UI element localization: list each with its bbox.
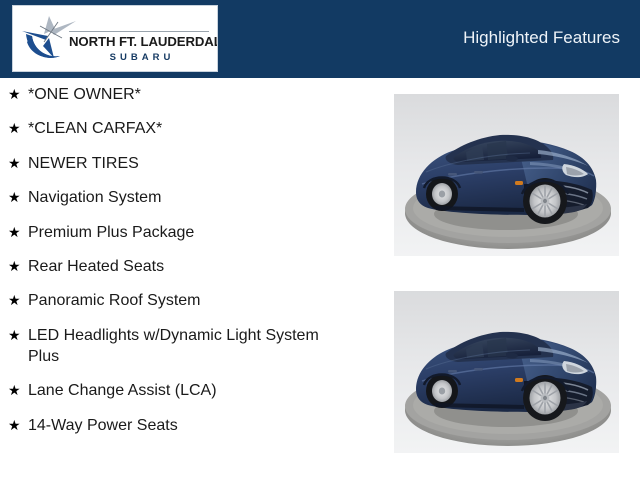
star-icon: ★	[8, 153, 28, 174]
page-header: NORTH FT. LAUDERDALE SUBARU Highlighted …	[0, 0, 640, 78]
list-item: ★ Lane Change Assist (LCA)	[0, 380, 372, 401]
logo-dealer-name: NORTH FT. LAUDERDALE	[69, 34, 215, 49]
feature-label: Lane Change Assist (LCA)	[28, 380, 372, 401]
star-icon: ★	[8, 256, 28, 277]
feature-label: LED Headlights w/Dynamic Light System Pl…	[28, 325, 372, 367]
list-item: ★ Navigation System	[0, 187, 372, 208]
star-icon: ★	[8, 380, 28, 401]
feature-label: Rear Heated Seats	[28, 256, 372, 277]
star-icon: ★	[8, 118, 28, 139]
list-item: ★ NEWER TIRES	[0, 153, 372, 174]
highlighted-features-list: ★ *ONE OWNER* ★ *CLEAN CARFAX* ★ NEWER T…	[0, 84, 372, 449]
feature-label: Navigation System	[28, 187, 372, 208]
feature-label: Premium Plus Package	[28, 222, 372, 243]
feature-label: 14-Way Power Seats	[28, 415, 372, 436]
vehicle-photo-front-three-quarter-2[interactable]	[388, 285, 625, 463]
feature-label: NEWER TIRES	[28, 153, 372, 174]
star-icon: ★	[8, 415, 28, 436]
list-item: ★ Panoramic Roof System	[0, 290, 372, 311]
star-icon: ★	[8, 187, 28, 208]
logo-divider	[69, 31, 209, 32]
vehicle-image	[388, 285, 625, 463]
list-item: ★ Premium Plus Package	[0, 222, 372, 243]
vehicle-photo-front-three-quarter-1[interactable]	[388, 88, 625, 266]
list-item: ★ *CLEAN CARFAX*	[0, 118, 372, 139]
vehicle-image	[388, 88, 625, 266]
star-icon: ★	[8, 325, 28, 346]
list-item: ★ LED Headlights w/Dynamic Light System …	[0, 325, 372, 367]
feature-label: *CLEAN CARFAX*	[28, 118, 372, 139]
page-title: Highlighted Features	[463, 28, 620, 48]
star-icon: ★	[8, 84, 28, 105]
list-item: ★ 14-Way Power Seats	[0, 415, 372, 436]
feature-label: *ONE OWNER*	[28, 84, 372, 105]
logo-brand-name: SUBARU	[69, 52, 215, 63]
feature-label: Panoramic Roof System	[28, 290, 372, 311]
dealer-logo[interactable]: NORTH FT. LAUDERDALE SUBARU	[12, 5, 218, 72]
star-icon: ★	[8, 222, 28, 243]
list-item: ★ *ONE OWNER*	[0, 84, 372, 105]
list-item: ★ Rear Heated Seats	[0, 256, 372, 277]
star-icon: ★	[8, 290, 28, 311]
